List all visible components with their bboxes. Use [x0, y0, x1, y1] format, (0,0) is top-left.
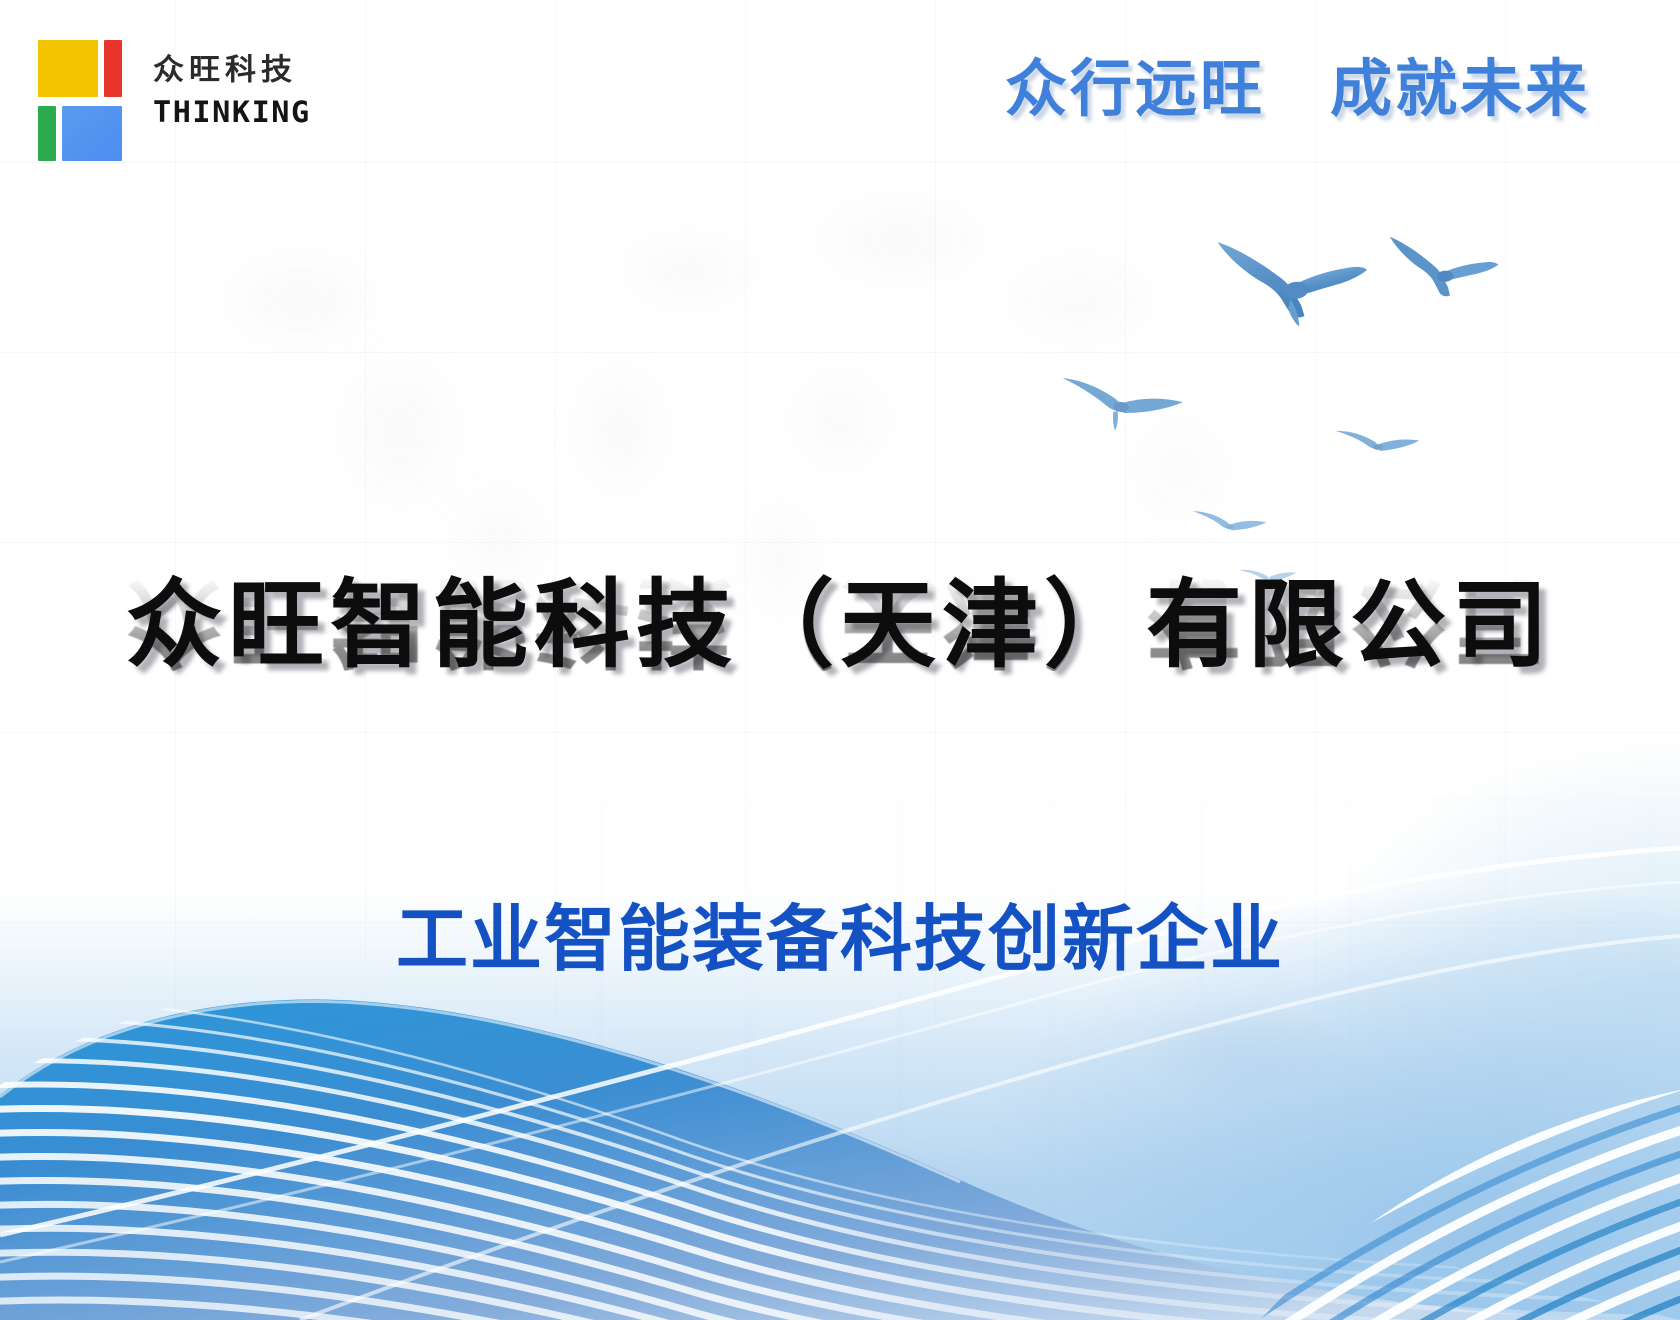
logo-swatch-red [104, 40, 122, 97]
company-logo[interactable]: 众旺科技 THINKING [33, 30, 305, 145]
logo-wordmark: 众旺科技 THINKING [153, 48, 305, 127]
page-title-reflection: 众旺智能科技（天津）有限公司 [0, 569, 1680, 671]
slide-header: 众旺科技 THINKING 众行远旺 成就未来 [0, 0, 1680, 185]
logo-swatch-blue [62, 106, 122, 161]
slogan-tagline: 众行远旺 成就未来 [1005, 58, 1590, 120]
presentation-slide: 众旺科技 THINKING 众行远旺 成就未来 众旺智能科技（天津）有限公司 众… [0, 0, 1680, 1320]
logo-swatch-yellow [38, 40, 98, 97]
logo-name-en: THINKING [153, 98, 311, 127]
logo-mark-icon [33, 30, 123, 145]
logo-name-cn: 众旺科技 [153, 55, 305, 86]
title-block: 众旺智能科技（天津）有限公司 众旺智能科技（天津）有限公司 [0, 575, 1680, 773]
logo-swatch-green [38, 106, 56, 161]
subtitle: 工业智能装备科技创新企业 [0, 900, 1680, 979]
